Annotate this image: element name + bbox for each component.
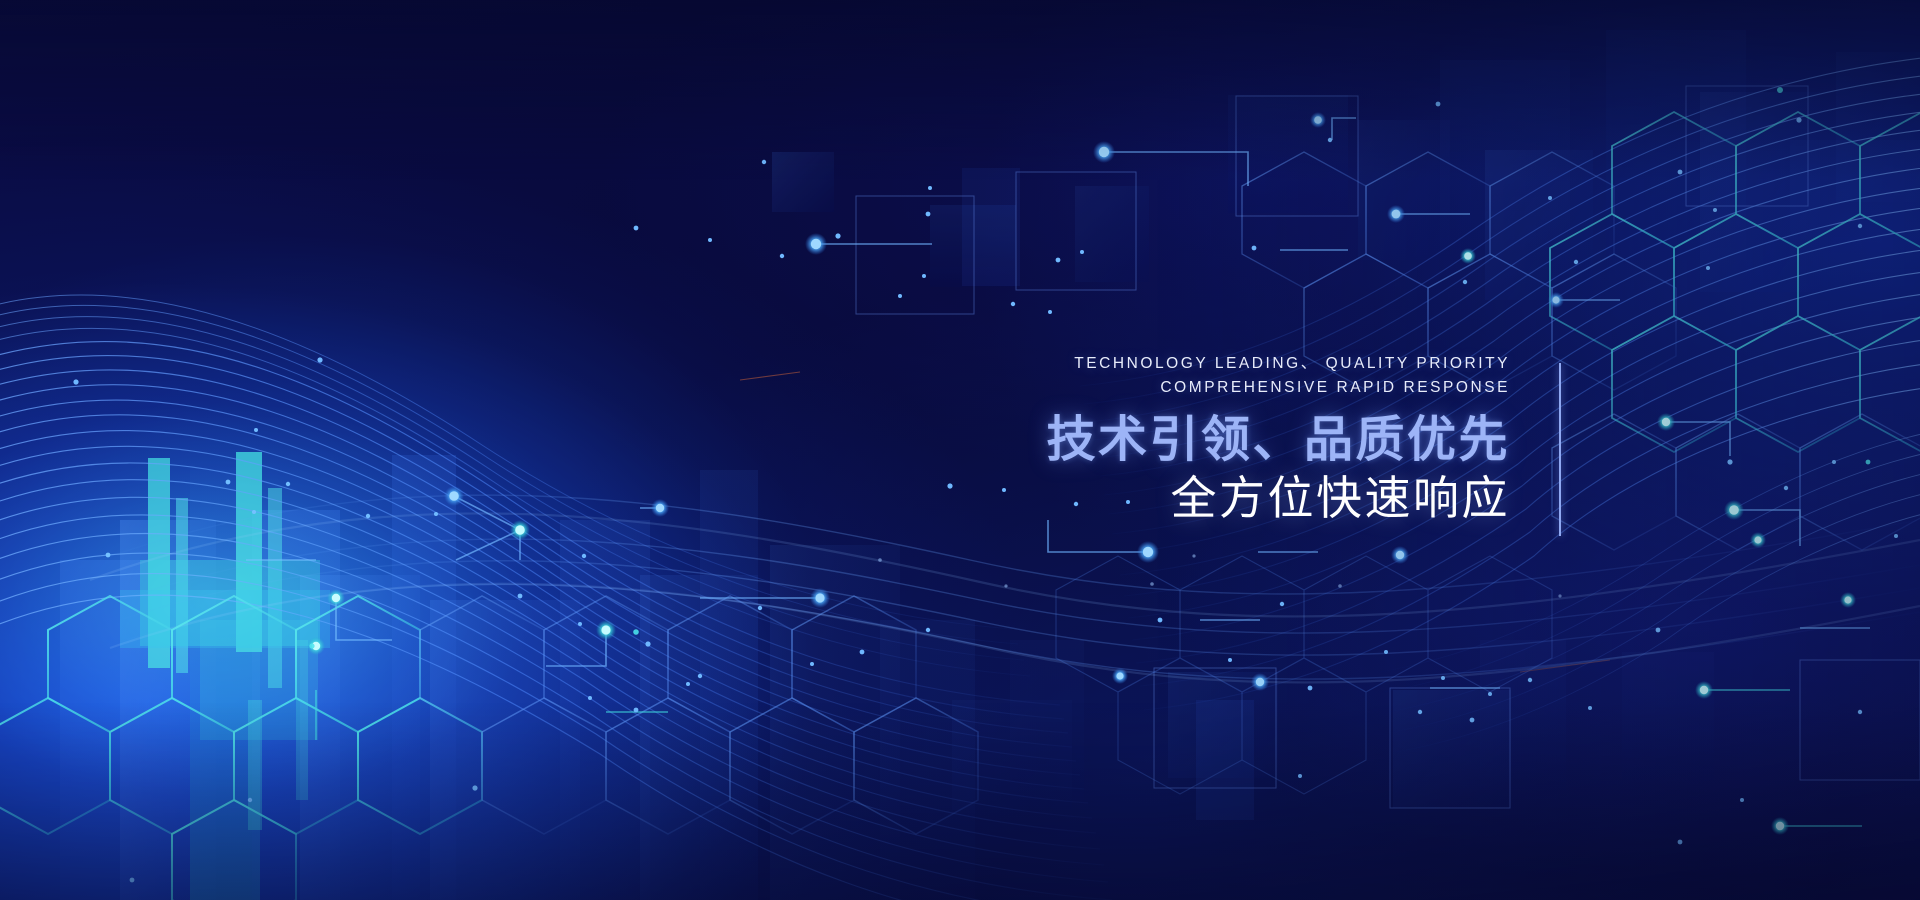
floating-particles [0, 0, 1920, 900]
eyebrow-line-2: COMPREHENSIVE RAPID RESPONSE [1010, 376, 1510, 400]
accent-streak [0, 0, 1920, 900]
hero-text-block: TECHNOLOGY LEADING、 QUALITY PRIORITY COM… [1010, 352, 1510, 526]
hero-banner: TECHNOLOGY LEADING、 QUALITY PRIORITY COM… [0, 0, 1920, 900]
background-gradient [0, 0, 1920, 900]
translucent-rectangles [0, 0, 1920, 900]
flowing-wave-lines [0, 0, 1920, 900]
eyebrow-line-1: TECHNOLOGY LEADING、 QUALITY PRIORITY [1010, 352, 1510, 376]
circuit-lines-and-nodes [0, 0, 1920, 900]
headline-line-2: 全方位快速响应 [1010, 470, 1510, 526]
hexagon-network-cluster [0, 0, 1920, 900]
vignette [0, 0, 1920, 900]
glow-overlay [0, 0, 1920, 900]
vertical-accent-rule [1559, 363, 1561, 536]
headline-line-1: 技术引领、品质优先 [1010, 410, 1510, 470]
